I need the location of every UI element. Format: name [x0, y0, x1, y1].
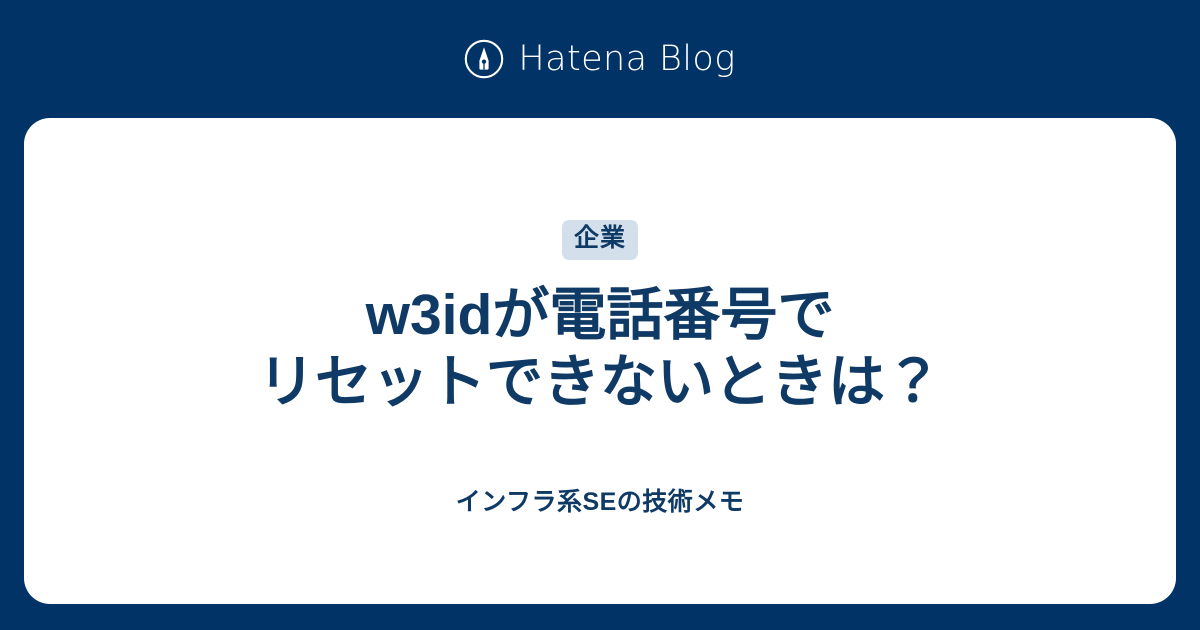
category-row: 企業 — [562, 220, 638, 260]
entry-title-line-1: w3idが電話番号で — [366, 283, 835, 347]
entry-title-line-2: リセットできないときは？ — [258, 350, 942, 414]
blog-title: インフラ系SEの技術メモ — [456, 487, 745, 517]
brand-name-label: Hatena Blog — [518, 42, 735, 77]
hatena-blog-logo — [464, 39, 504, 79]
entry-card-content: 企業 w3idが電話番号で リセットできないときは？ インフラ系SEの技術メモ — [24, 118, 1176, 517]
category-badge[interactable]: 企業 — [562, 220, 638, 260]
pen-nib-icon — [464, 39, 504, 79]
entry-card: 企業 w3idが電話番号で リセットできないときは？ インフラ系SEの技術メモ — [24, 118, 1176, 604]
entry-title: w3idが電話番号で リセットできないときは？ — [258, 282, 942, 417]
brand-header: Hatena Blog — [0, 0, 1200, 118]
ogp-card-root: Hatena Blog 企業 w3idが電話番号で リセットできないときは？ イ… — [0, 0, 1200, 630]
